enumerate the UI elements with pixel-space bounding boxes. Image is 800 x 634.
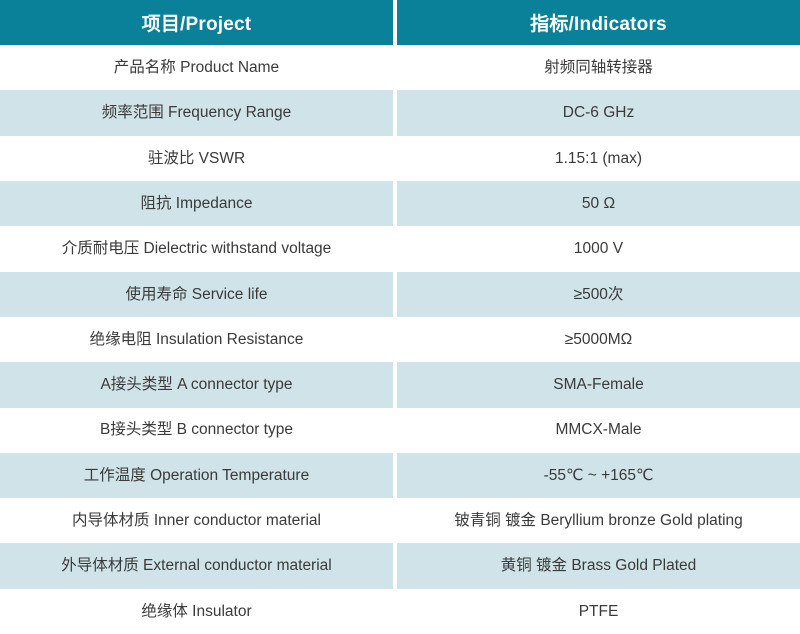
table-row: 绝缘体 Insulator PTFE xyxy=(0,589,800,634)
table-row: 阻抗 Impedance 50 Ω xyxy=(0,181,800,226)
table-row: 外导体材质 External conductor material 黄铜 镀金 … xyxy=(0,543,800,588)
table-row: B接头类型 B connector type MMCX-Male xyxy=(0,408,800,453)
column-header-indicators: 指标/Indicators xyxy=(397,0,800,45)
row-indicator-cell: 1000 V xyxy=(397,226,800,271)
row-project-cell: 工作温度 Operation Temperature xyxy=(0,453,393,498)
table-row: 产品名称 Product Name 射频同轴转接器 xyxy=(0,45,800,90)
row-project-cell: 绝缘电阻 Insulation Resistance xyxy=(0,317,393,362)
row-indicator-cell: DC-6 GHz xyxy=(397,90,800,135)
row-indicator-cell: 铍青铜 镀金 Beryllium bronze Gold plating xyxy=(397,498,800,543)
row-project-cell: 内导体材质 Inner conductor material xyxy=(0,498,393,543)
table-body: 产品名称 Product Name 射频同轴转接器 频率范围 Frequency… xyxy=(0,45,800,634)
table-row: 内导体材质 Inner conductor material 铍青铜 镀金 Be… xyxy=(0,498,800,543)
row-indicator-cell: SMA-Female xyxy=(397,362,800,407)
row-indicator-cell: 1.15:1 (max) xyxy=(397,136,800,181)
row-indicator-cell: PTFE xyxy=(397,589,800,634)
table-header-row: 项目/Project 指标/Indicators xyxy=(0,0,800,45)
row-project-cell: 频率范围 Frequency Range xyxy=(0,90,393,135)
row-project-cell: 产品名称 Product Name xyxy=(0,45,393,90)
row-project-cell: 介质耐电压 Dielectric withstand voltage xyxy=(0,226,393,271)
row-indicator-cell: ≥5000MΩ xyxy=(397,317,800,362)
table-row: 使用寿命 Service life ≥500次 xyxy=(0,272,800,317)
table-row: 频率范围 Frequency Range DC-6 GHz xyxy=(0,90,800,135)
specification-table: 项目/Project 指标/Indicators 产品名称 Product Na… xyxy=(0,0,800,634)
row-indicator-cell: 50 Ω xyxy=(397,181,800,226)
row-project-cell: 驻波比 VSWR xyxy=(0,136,393,181)
table-row: 绝缘电阻 Insulation Resistance ≥5000MΩ xyxy=(0,317,800,362)
row-indicator-cell: -55℃ ~ +165℃ xyxy=(397,453,800,498)
row-indicator-cell: MMCX-Male xyxy=(397,408,800,453)
table-row: 工作温度 Operation Temperature -55℃ ~ +165℃ xyxy=(0,453,800,498)
column-header-project: 项目/Project xyxy=(0,0,393,45)
row-indicator-cell: 射频同轴转接器 xyxy=(397,45,800,90)
row-indicator-cell: 黄铜 镀金 Brass Gold Plated xyxy=(397,543,800,588)
row-project-cell: 使用寿命 Service life xyxy=(0,272,393,317)
row-project-cell: 外导体材质 External conductor material xyxy=(0,543,393,588)
table-row: 驻波比 VSWR 1.15:1 (max) xyxy=(0,136,800,181)
row-project-cell: A接头类型 A connector type xyxy=(0,362,393,407)
table-row: 介质耐电压 Dielectric withstand voltage 1000 … xyxy=(0,226,800,271)
row-project-cell: 绝缘体 Insulator xyxy=(0,589,393,634)
table-row: A接头类型 A connector type SMA-Female xyxy=(0,362,800,407)
row-project-cell: B接头类型 B connector type xyxy=(0,408,393,453)
row-project-cell: 阻抗 Impedance xyxy=(0,181,393,226)
row-indicator-cell: ≥500次 xyxy=(397,272,800,317)
